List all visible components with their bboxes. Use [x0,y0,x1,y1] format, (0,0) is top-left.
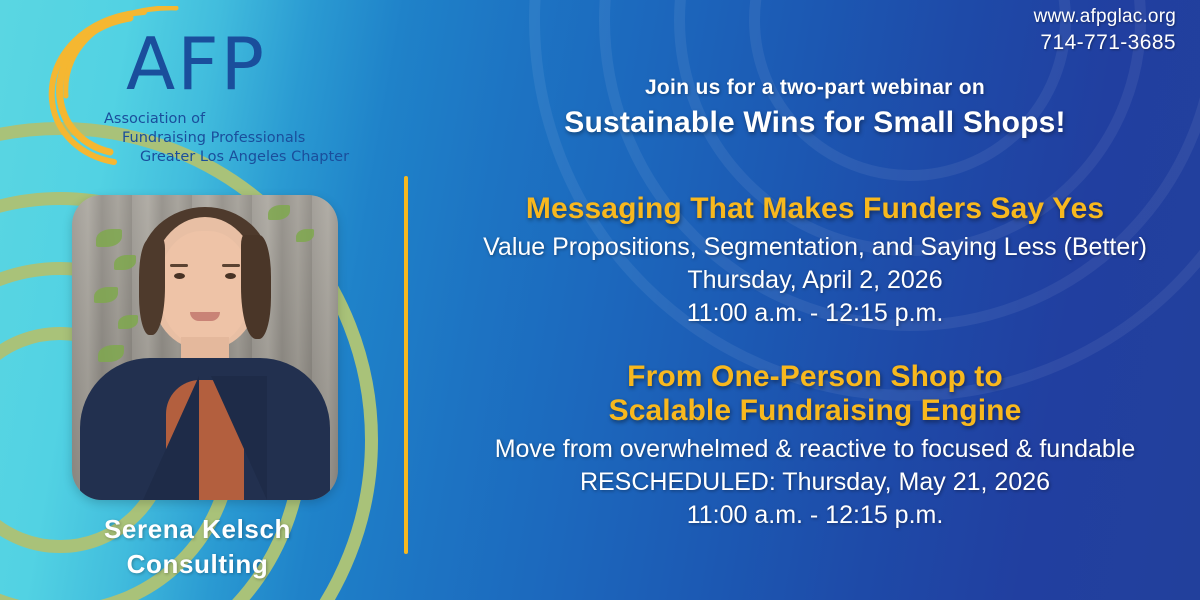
session-2-description: Move from overwhelmed & reactive to focu… [430,434,1200,464]
speaker-name: Serena Kelsch [0,512,395,547]
afp-logo: AFP Association of Fundraising Professio… [26,6,366,166]
photo-lapel-left [143,376,199,500]
flyer-canvas: AFP Association of Fundraising Professio… [0,0,1200,600]
session-2: From One-Person Shop to Scalable Fundrai… [430,360,1200,530]
series-title: Sustainable Wins for Small Shops! [430,106,1200,140]
photo-eye-right [225,273,236,279]
logo-letters: AFP [126,28,266,100]
photo-hair-left [139,239,165,335]
intro-line: Join us for a two-part webinar on [430,76,1200,100]
session-1: Messaging That Makes Funders Say Yes Val… [430,192,1200,328]
photo-mouth [190,312,220,321]
photo-eye-left [174,273,185,279]
logo-subtitle-line-1: Association of [104,110,364,129]
session-2-time: 11:00 a.m. - 12:15 p.m. [430,500,1200,530]
session-1-title: Messaging That Makes Funders Say Yes [430,192,1200,226]
speaker-name-block: Serena Kelsch Consulting [0,512,395,582]
session-2-title: From One-Person Shop to Scalable Fundrai… [430,360,1200,428]
photo-face [159,231,251,347]
session-1-date: Thursday, April 2, 2026 [430,265,1200,295]
photo-eyebrow-left [170,264,188,267]
session-2-title-line-1: From One-Person Shop to [430,360,1200,394]
session-2-title-line-2: Scalable Fundraising Engine [430,394,1200,428]
photo-hair-right [241,235,271,339]
speaker-photo [72,195,338,500]
photo-eyebrow-right [222,264,240,267]
vertical-divider [404,176,408,554]
content-panel: Join us for a two-part webinar on Sustai… [430,0,1200,600]
logo-subtitle-line-2: Fundraising Professionals [104,129,364,148]
header-block: Join us for a two-part webinar on Sustai… [430,76,1200,140]
photo-lapel-right [211,376,267,500]
speaker-company: Consulting [0,547,395,582]
session-1-description: Value Propositions, Segmentation, and Sa… [430,232,1200,262]
logo-subtitle-line-3: Greater Los Angeles Chapter [104,148,364,167]
session-2-date: RESCHEDULED: Thursday, May 21, 2026 [430,467,1200,497]
session-1-time: 11:00 a.m. - 12:15 p.m. [430,298,1200,328]
logo-subtitle: Association of Fundraising Professionals… [104,110,364,167]
